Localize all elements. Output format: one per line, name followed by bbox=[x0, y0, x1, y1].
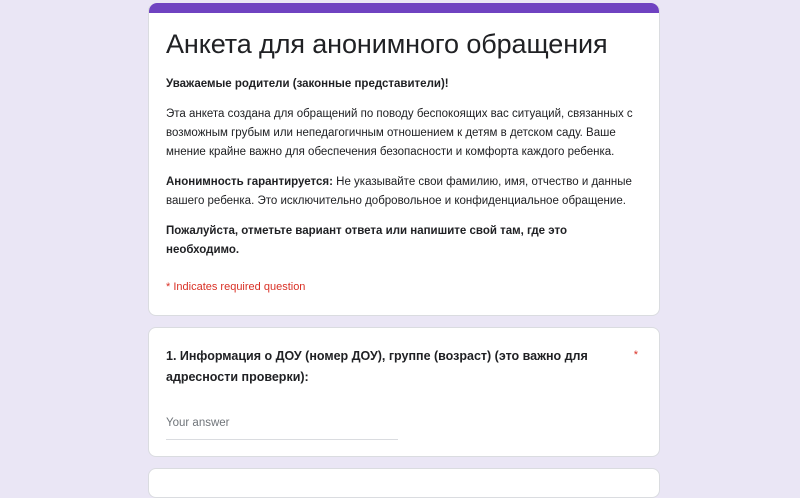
question-header-1: 1. Информация о ДОУ (номер ДОУ), группе … bbox=[166, 346, 642, 388]
question-card-1: 1. Информация о ДОУ (номер ДОУ), группе … bbox=[148, 327, 660, 457]
answer-row-1 bbox=[166, 413, 642, 440]
description-greeting: Уважаемые родители (законные представите… bbox=[166, 75, 642, 94]
form-header-card: Анкета для анонимного обращения Уважаемы… bbox=[148, 3, 660, 316]
form-accent-bar bbox=[149, 3, 659, 13]
form-container: Анкета для анонимного обращения Уважаемы… bbox=[148, 3, 660, 498]
form-header-body: Анкета для анонимного обращения Уважаемы… bbox=[149, 13, 659, 315]
description-paragraph-3: Пожалуйста, отметьте вариант ответа или … bbox=[166, 222, 642, 260]
required-question-note: * Indicates required question bbox=[166, 279, 642, 295]
form-page: Анкета для анонимного обращения Уважаемы… bbox=[0, 0, 800, 420]
question-card-2-partial bbox=[148, 468, 660, 498]
question-title-1: 1. Информация о ДОУ (номер ДОУ), группе … bbox=[166, 346, 596, 388]
page-title: Анкета для анонимного обращения bbox=[166, 27, 642, 61]
answer-input-1[interactable] bbox=[166, 413, 398, 440]
required-asterisk-1: * bbox=[634, 346, 642, 364]
description-paragraph-2: Анонимность гарантируется: Не указывайте… bbox=[166, 173, 642, 211]
anonymity-guarantee-label: Анонимность гарантируется: bbox=[166, 176, 333, 188]
description-paragraph-1: Эта анкета создана для обращений по пово… bbox=[166, 105, 642, 162]
